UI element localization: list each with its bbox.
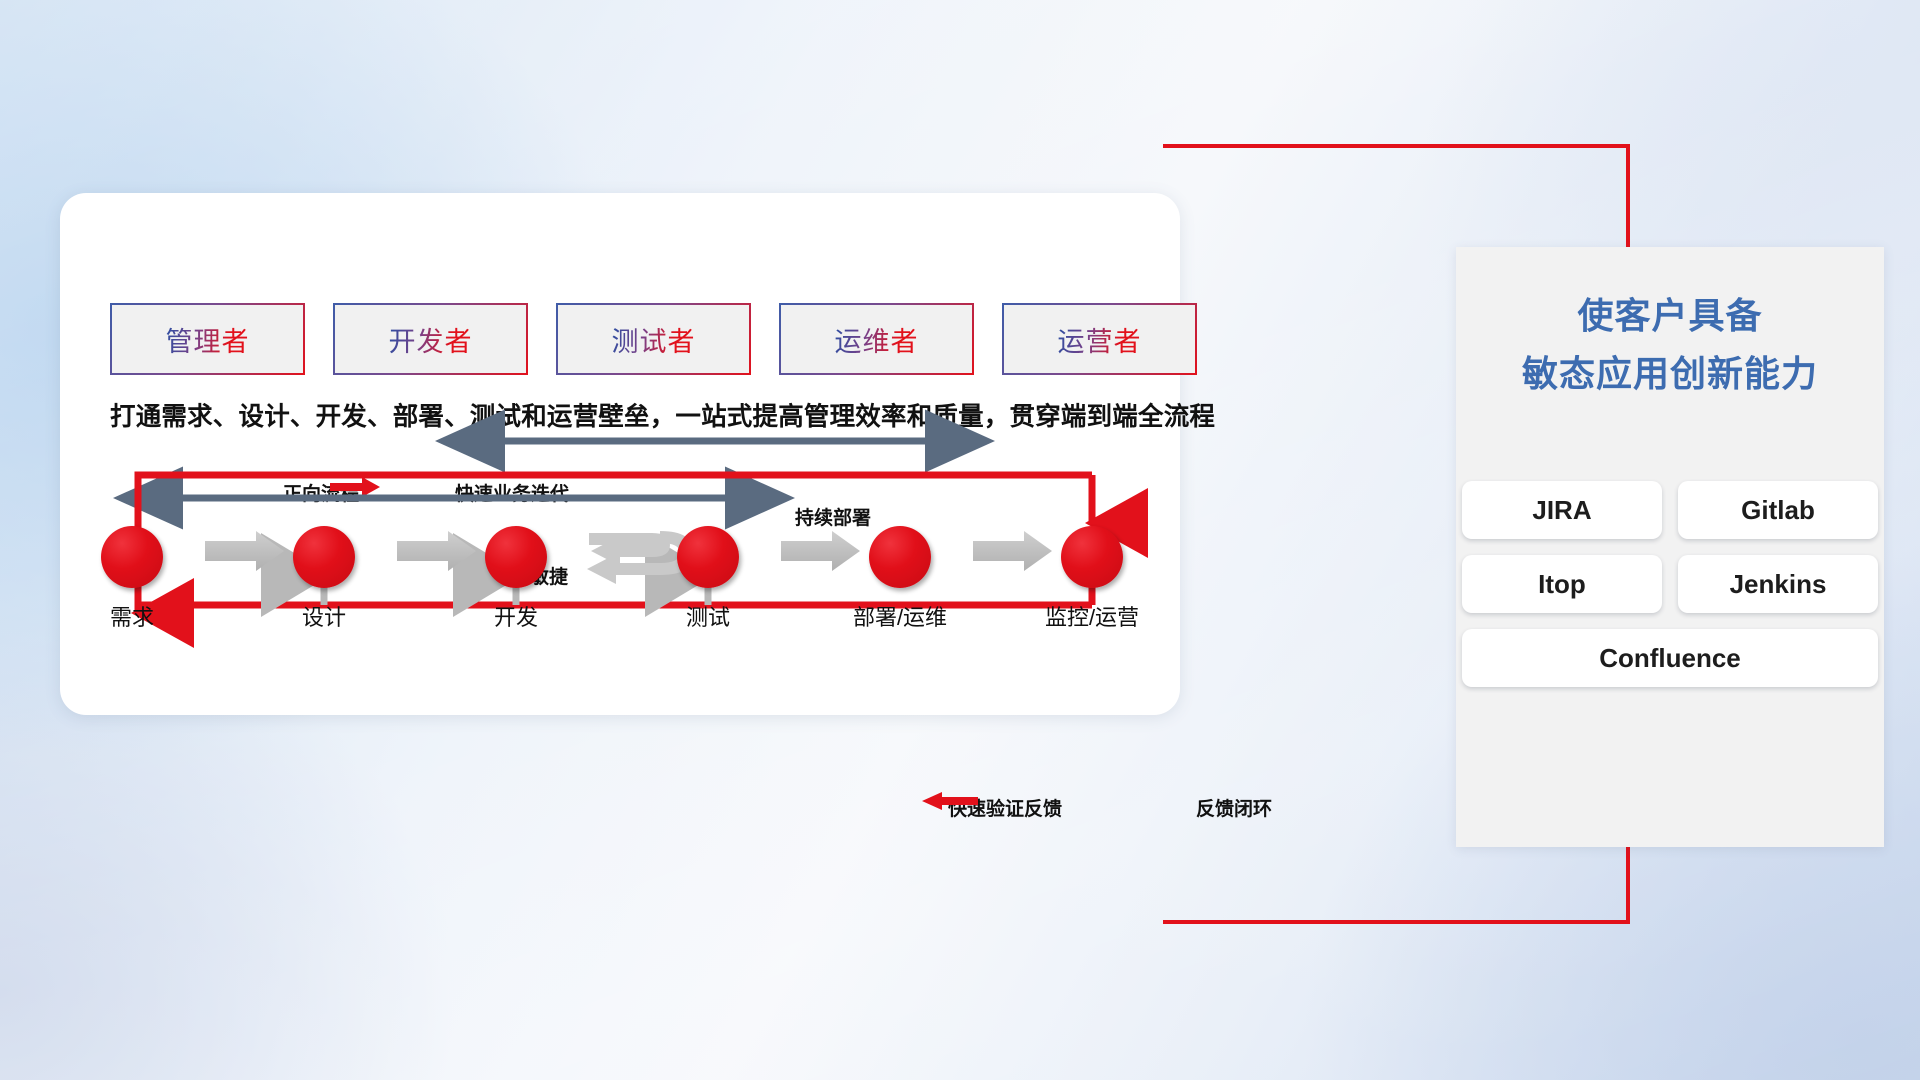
- stage-dot-develop[interactable]: [485, 526, 547, 588]
- stage-label-requirements: 需求: [110, 600, 154, 632]
- flow-diagram-graphics: [60, 193, 1180, 715]
- forward-process-arrow-icon: [330, 477, 380, 497]
- panel-title-line1: 使客户具备: [1456, 287, 1884, 345]
- tool-chip-group: JIRA Gitlab Itop Jenkins Confluence: [1462, 481, 1878, 687]
- tool-chip-jenkins[interactable]: Jenkins: [1678, 555, 1878, 613]
- tool-chip-itop[interactable]: Itop: [1462, 555, 1662, 613]
- stage-dot-monitor-operate[interactable]: [1061, 526, 1123, 588]
- tool-chip-jira[interactable]: JIRA: [1462, 481, 1662, 539]
- stage-label-deploy-ops: 部署/运维: [853, 600, 947, 632]
- caption-feedback-loop: 反馈闭环: [1196, 794, 1272, 821]
- stage-label-develop: 开发: [494, 600, 538, 632]
- stage-label-test: 测试: [686, 600, 730, 632]
- tool-chip-confluence[interactable]: Confluence: [1462, 629, 1878, 687]
- stage-dot-deploy-ops[interactable]: [869, 526, 931, 588]
- stage-label-design: 设计: [302, 600, 346, 632]
- stage-dot-design[interactable]: [293, 526, 355, 588]
- panel-title-line2: 敏态应用创新能力: [1456, 345, 1884, 403]
- tool-chip-gitlab[interactable]: Gitlab: [1678, 481, 1878, 539]
- stage-label-monitor-operate: 监控/运营: [1045, 600, 1139, 632]
- capability-panel-title: 使客户具备 敏态应用创新能力: [1456, 287, 1884, 403]
- stage-dot-requirements[interactable]: [101, 526, 163, 588]
- stage-dot-test[interactable]: [677, 526, 739, 588]
